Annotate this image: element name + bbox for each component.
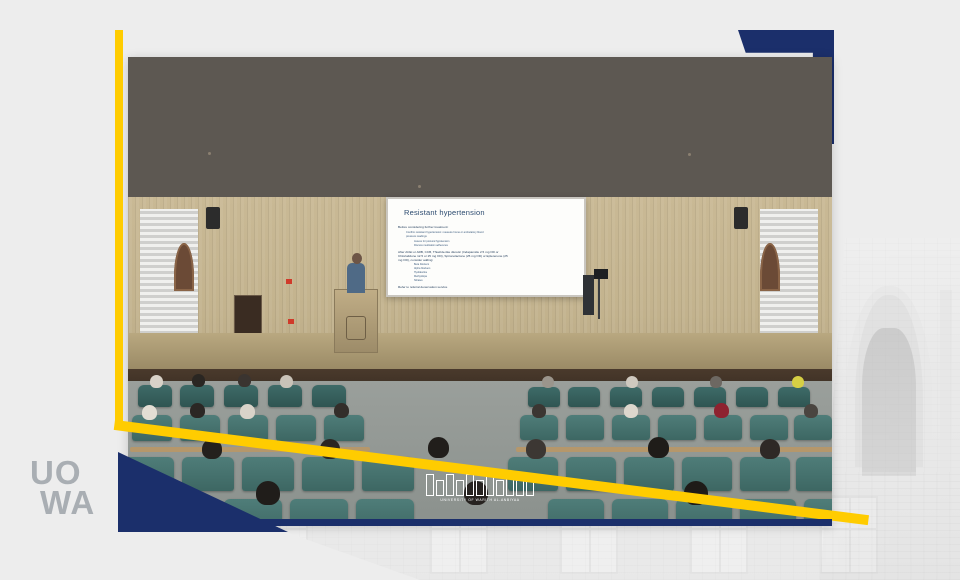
- seat: [736, 387, 768, 407]
- audience-head: [792, 376, 804, 388]
- audience-head: [532, 404, 546, 418]
- audience-head: [804, 404, 818, 418]
- university-crest-icon: [346, 316, 366, 340]
- audience-head: [760, 439, 780, 459]
- wall-speaker-right: [734, 207, 748, 229]
- presenter: [347, 263, 365, 293]
- seat: [778, 387, 810, 407]
- seat: [276, 415, 316, 441]
- slide-bullet: mg OD), consider adding:: [398, 258, 433, 262]
- seat: [658, 415, 696, 440]
- seat: [568, 387, 600, 407]
- presenter-head: [352, 253, 362, 264]
- seat: [138, 385, 172, 407]
- seat: [268, 385, 302, 407]
- audience-head: [648, 437, 669, 458]
- slide-title: Resistant hypertension: [404, 208, 485, 217]
- audience-head: [192, 374, 205, 387]
- uowa-logo: UO WA: [30, 458, 108, 519]
- audience-head: [710, 376, 722, 388]
- audience-head: [280, 375, 293, 388]
- seat: [652, 387, 684, 407]
- seat: [610, 387, 642, 407]
- slide-bullet: Discuss medication adherence: [414, 244, 448, 248]
- audience-head: [626, 376, 638, 388]
- seat: [740, 457, 790, 491]
- projection-screen: Resistant hypertension Before considerin…: [386, 197, 586, 297]
- slide-bullet: Before considering further treatment:: [398, 225, 448, 229]
- fire-alarm-box: [288, 319, 294, 324]
- audience-head-hijab: [142, 405, 157, 420]
- slide-bullet: Nitrates: [414, 279, 423, 283]
- audience-head: [428, 437, 449, 458]
- audience-head: [542, 376, 554, 388]
- audience-head: [624, 404, 638, 418]
- seat: [224, 385, 258, 407]
- slide-bullet: Refer to referral denervation service: [398, 285, 447, 289]
- audience-head: [238, 374, 251, 387]
- audience-head: [150, 375, 163, 388]
- university-full-name: UNIVERSITY OF WARITH AL-ANBIYAA: [424, 498, 536, 502]
- video-camera-icon: [594, 269, 608, 279]
- navy-baseline-bar: [123, 519, 832, 526]
- audience-head: [334, 403, 349, 418]
- slide-bullet: pressure readings: [406, 235, 427, 239]
- tripod: [598, 279, 600, 319]
- seat: [794, 415, 832, 440]
- seat: [520, 415, 558, 440]
- fire-alarm-box: [286, 279, 292, 284]
- auditorium-photo: Resistant hypertension Before considerin…: [128, 57, 832, 525]
- seat: [704, 415, 742, 440]
- seat: [612, 415, 650, 440]
- seat: [750, 415, 788, 440]
- audience-head: [526, 439, 546, 459]
- wall-speaker-left: [206, 207, 220, 229]
- poster-canvas: Resistant hypertension Before considerin…: [0, 0, 960, 580]
- seat: [528, 387, 560, 407]
- audience-head: [190, 403, 205, 418]
- cameraman: [583, 275, 594, 315]
- yellow-vertical-accent: [115, 30, 123, 428]
- ceiling-beams: [128, 57, 832, 205]
- audience-head: [256, 481, 280, 505]
- seat: [302, 457, 354, 491]
- seat: [796, 457, 832, 491]
- seat: [324, 415, 364, 441]
- row-desk: [516, 447, 832, 452]
- uowa-logo-line2: WA: [40, 488, 108, 518]
- podium: [334, 289, 378, 353]
- audience-head-hijab: [714, 403, 729, 418]
- seat: [566, 415, 604, 440]
- audience-head-hijab: [240, 404, 255, 419]
